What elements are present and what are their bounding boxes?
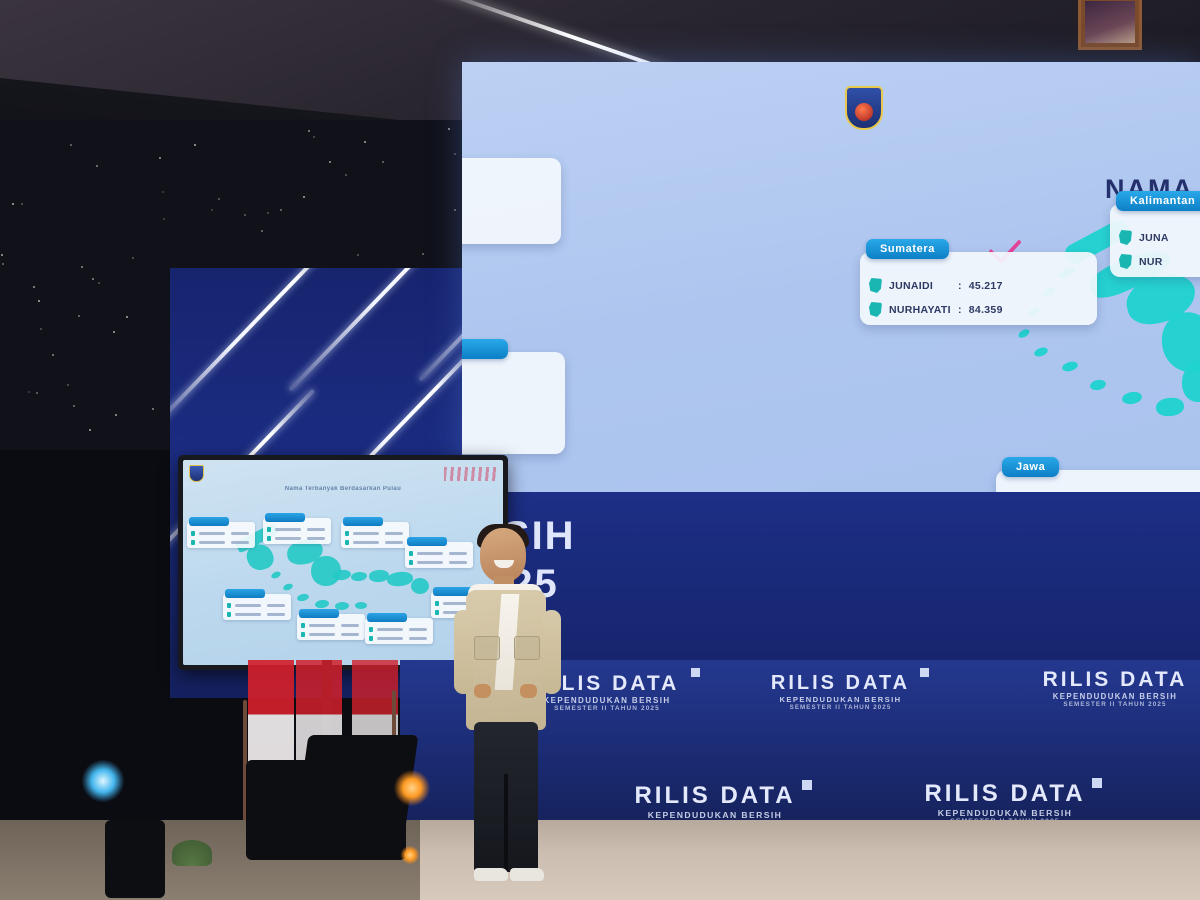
tv-map-pin-icon bbox=[345, 531, 349, 536]
map-pin-icon bbox=[1119, 254, 1132, 269]
riser-banner: RILIS DATA KEPENDUDUKAN BERSIH SEMESTER … bbox=[748, 672, 933, 711]
head bbox=[480, 528, 526, 582]
tv-map-pin-icon bbox=[369, 636, 373, 641]
map-island bbox=[1155, 397, 1185, 418]
card-row: NUR bbox=[1119, 254, 1200, 269]
tv-callout-value-line bbox=[385, 532, 403, 535]
tv-callout-header bbox=[407, 537, 447, 546]
tv-callout-header bbox=[225, 589, 265, 598]
separator: : bbox=[958, 304, 962, 316]
star-light bbox=[132, 257, 134, 259]
star-light bbox=[162, 191, 164, 193]
tv-callout-text-line bbox=[199, 532, 225, 535]
tv-map-pin-icon bbox=[191, 540, 195, 545]
star-light bbox=[2, 263, 4, 265]
star-light bbox=[21, 203, 23, 205]
card-region-label: Jawa bbox=[1002, 457, 1059, 477]
tv-callout-text-line bbox=[377, 628, 403, 631]
tv-map-pin-icon bbox=[301, 632, 305, 637]
card-row: JUNAIDI : 45.217 bbox=[869, 278, 1087, 293]
star-light bbox=[67, 384, 69, 386]
banner-title: RILIS DATA bbox=[900, 780, 1110, 808]
tv-map-pin-icon bbox=[191, 531, 195, 536]
amber-stage-light bbox=[394, 770, 430, 806]
banner-square-icon bbox=[691, 668, 700, 677]
tv-callout-card bbox=[187, 522, 255, 548]
star-light bbox=[345, 174, 347, 176]
star-light bbox=[382, 161, 384, 163]
banner-square-icon bbox=[1092, 778, 1102, 788]
star-light bbox=[364, 141, 366, 143]
banner-subtitle: KEPENDUDUKAN BERSIH bbox=[610, 810, 820, 820]
tv-map-pin-icon bbox=[267, 527, 271, 532]
tv-callout-value-line bbox=[267, 613, 285, 616]
star-light bbox=[40, 328, 42, 330]
card-partial-left-bottom bbox=[462, 352, 565, 454]
star-light bbox=[211, 209, 213, 211]
star-light bbox=[52, 354, 54, 356]
star-light bbox=[126, 316, 128, 318]
star-light bbox=[313, 136, 315, 138]
tv-callout-value-line bbox=[307, 537, 325, 540]
tv-map-island bbox=[355, 602, 367, 609]
map-island bbox=[1061, 360, 1079, 373]
tv-callout-text-line bbox=[309, 624, 335, 627]
star-light bbox=[218, 198, 220, 200]
tv-callout-text-line bbox=[377, 637, 403, 640]
star-light bbox=[303, 196, 305, 198]
map-island bbox=[1017, 327, 1031, 339]
person-name: JUNA bbox=[1139, 232, 1200, 244]
presenter bbox=[452, 524, 564, 884]
banner-square-icon bbox=[802, 780, 812, 790]
star-light bbox=[244, 214, 246, 216]
banner-subtitle: KEPENDUDUKAN BERSIH bbox=[900, 808, 1110, 818]
tv-callout-text-line bbox=[417, 561, 443, 564]
star-light bbox=[280, 209, 282, 211]
tv-callout-value-line bbox=[307, 528, 325, 531]
tv-callout-value-line bbox=[267, 604, 285, 607]
tv-callout-value-line bbox=[231, 532, 249, 535]
card-partial-left-top bbox=[462, 158, 561, 244]
led-strip-icon bbox=[170, 268, 340, 281]
banner-subtitle: KEPENDUDUKAN BERSIH bbox=[1020, 692, 1200, 701]
tv-callout-text-line bbox=[235, 604, 261, 607]
star-light bbox=[163, 218, 165, 220]
vest-pocket bbox=[474, 636, 500, 660]
tv-callout-card bbox=[341, 522, 409, 548]
card-sumatera: Sumatera JUNAIDI : 45.217 NURHAYATI : 84… bbox=[860, 252, 1097, 325]
tv-callout-value-line bbox=[409, 637, 427, 640]
tv-map-island bbox=[296, 593, 309, 602]
tv-callout-text-line bbox=[275, 528, 301, 531]
star-light bbox=[115, 414, 117, 416]
tv-callout-text-line bbox=[353, 532, 379, 535]
tv-map-pin-icon bbox=[409, 551, 413, 556]
speaker-cabinet bbox=[105, 820, 165, 898]
star-light bbox=[70, 144, 72, 146]
tv-callout-value-line bbox=[409, 628, 427, 631]
tv-map-pin-icon bbox=[267, 536, 271, 541]
shoe bbox=[510, 868, 544, 881]
person-count: 84.359 bbox=[969, 304, 1003, 316]
amber-stage-light bbox=[400, 846, 420, 864]
star-light bbox=[159, 157, 161, 159]
big-led-screen: NAMA Sumatera JUNAIDI : 45.217 NURHAYATI… bbox=[462, 62, 1200, 662]
tv-map-pin-icon bbox=[345, 540, 349, 545]
plant-decor bbox=[172, 840, 212, 866]
star-light bbox=[454, 153, 456, 155]
star-light bbox=[261, 230, 263, 232]
map-pin-icon bbox=[869, 278, 882, 293]
tv-map-island bbox=[332, 569, 351, 581]
star-light bbox=[98, 282, 100, 284]
tv-callout-card bbox=[365, 618, 433, 644]
tv-map-island bbox=[282, 582, 293, 591]
tv-callout-header bbox=[265, 513, 305, 522]
star-light bbox=[36, 392, 38, 394]
star-light bbox=[448, 128, 450, 130]
shoe bbox=[474, 868, 508, 881]
star-light bbox=[89, 429, 91, 431]
card-region-label: Kalimantan bbox=[1116, 191, 1200, 211]
left-arm bbox=[454, 610, 473, 694]
star-light bbox=[33, 286, 35, 288]
tv-callout-text-line bbox=[417, 552, 443, 555]
tv-callout-value-line bbox=[341, 633, 359, 636]
photo-scene: NAMA Sumatera JUNAIDI : 45.217 NURHAYATI… bbox=[0, 0, 1200, 900]
led-strip-icon bbox=[170, 268, 342, 421]
star-light bbox=[422, 253, 424, 255]
tv-callout-value-line bbox=[341, 624, 359, 627]
cyan-stage-light bbox=[82, 760, 124, 802]
tv-map-island bbox=[351, 571, 368, 582]
person-name: NURHAYATI bbox=[889, 304, 951, 316]
banner-title: RILIS DATA bbox=[610, 782, 820, 810]
right-hand bbox=[520, 684, 537, 698]
tv-callout-header bbox=[343, 517, 383, 526]
riser-banner: RILIS DATA KEPENDUDUKAN BERSIH SEMESTER … bbox=[1020, 668, 1200, 708]
riser-banner: RILIS DATA KEPENDUDUKAN BERSIH SEMESTER … bbox=[900, 780, 1110, 825]
star-light bbox=[194, 144, 196, 146]
tv-map-pin-icon bbox=[409, 560, 413, 565]
tv-callout-card bbox=[263, 518, 331, 544]
star-light bbox=[28, 391, 30, 393]
star-light bbox=[267, 212, 269, 214]
banner-subtitle-2: SEMESTER II TAHUN 2025 bbox=[748, 704, 933, 711]
card-row: JUNA bbox=[1119, 230, 1200, 245]
tv-callout-text-line bbox=[275, 537, 301, 540]
star-light bbox=[1, 254, 3, 256]
card-row: NURHAYATI : 84.359 bbox=[869, 302, 1087, 317]
tv-map-pin-icon bbox=[227, 612, 231, 617]
tv-callout-header bbox=[367, 613, 407, 622]
star-light bbox=[329, 161, 331, 163]
right-arm bbox=[542, 610, 561, 694]
star-light bbox=[113, 331, 115, 333]
vest-pocket bbox=[514, 636, 540, 660]
tv-callout-text-line bbox=[235, 613, 261, 616]
star-light bbox=[81, 266, 83, 268]
star-light bbox=[357, 254, 359, 256]
tv-slide-title: Nama Terbanyak Berdasarkan Pulau bbox=[285, 486, 401, 492]
tv-callout-card bbox=[297, 614, 365, 640]
map-pin-icon bbox=[1119, 230, 1132, 245]
tv-callout-header bbox=[299, 609, 339, 618]
banner-subtitle: KEPENDUDUKAN BERSIH bbox=[748, 695, 933, 704]
tv-map-pin-icon bbox=[369, 627, 373, 632]
tv-map-island bbox=[315, 599, 330, 609]
government-shield-emblem-icon bbox=[189, 465, 204, 482]
tv-map-pin-icon bbox=[227, 603, 231, 608]
star-light bbox=[454, 209, 456, 211]
separator: : bbox=[958, 280, 962, 292]
tv-callout-value-line bbox=[231, 541, 249, 544]
person-name: JUNAIDI bbox=[889, 280, 951, 292]
star-light bbox=[152, 408, 154, 410]
tv-map-pin-icon bbox=[301, 623, 305, 628]
tv-map-pin-icon bbox=[435, 601, 439, 606]
map-island bbox=[1121, 390, 1143, 405]
tv-map-pin-icon bbox=[435, 610, 439, 615]
card-kalimantan: Kalimantan JUNA NUR bbox=[1110, 204, 1200, 277]
tv-callout-card bbox=[223, 594, 291, 620]
banner-square-icon bbox=[920, 668, 929, 677]
tv-map-island bbox=[411, 578, 429, 594]
tv-callout-value-line bbox=[385, 541, 403, 544]
card-region-label bbox=[462, 339, 508, 359]
tv-map-island bbox=[386, 571, 413, 588]
map-island bbox=[1033, 346, 1049, 358]
banner-subtitle-2: SEMESTER II TAHUN 2025 bbox=[1020, 701, 1200, 708]
tv-callout-header bbox=[189, 517, 229, 526]
star-light bbox=[308, 130, 310, 132]
person-name: NUR bbox=[1139, 256, 1200, 268]
map-pin-icon bbox=[869, 302, 882, 317]
card-region-label: Sumatera bbox=[866, 239, 949, 259]
person-count: 45.217 bbox=[969, 280, 1003, 292]
tv-callout-text-line bbox=[199, 541, 225, 544]
star-light bbox=[96, 165, 98, 167]
star-light bbox=[92, 278, 94, 280]
banner-title: RILIS DATA bbox=[748, 672, 933, 695]
star-light bbox=[38, 300, 40, 302]
leg-split bbox=[504, 774, 508, 872]
left-hand bbox=[474, 684, 491, 698]
framed-portrait bbox=[1078, 0, 1142, 50]
tv-callout-text-line bbox=[309, 633, 335, 636]
star-light bbox=[12, 203, 14, 205]
event-logo-icon bbox=[444, 467, 496, 481]
government-shield-emblem-icon bbox=[845, 86, 883, 130]
tv-callout-text-line bbox=[353, 541, 379, 544]
tv-map-island bbox=[270, 570, 282, 580]
star-light bbox=[78, 315, 80, 317]
banner-title: RILIS DATA bbox=[1020, 668, 1200, 692]
map-island bbox=[1089, 378, 1107, 391]
star-light bbox=[73, 405, 75, 407]
